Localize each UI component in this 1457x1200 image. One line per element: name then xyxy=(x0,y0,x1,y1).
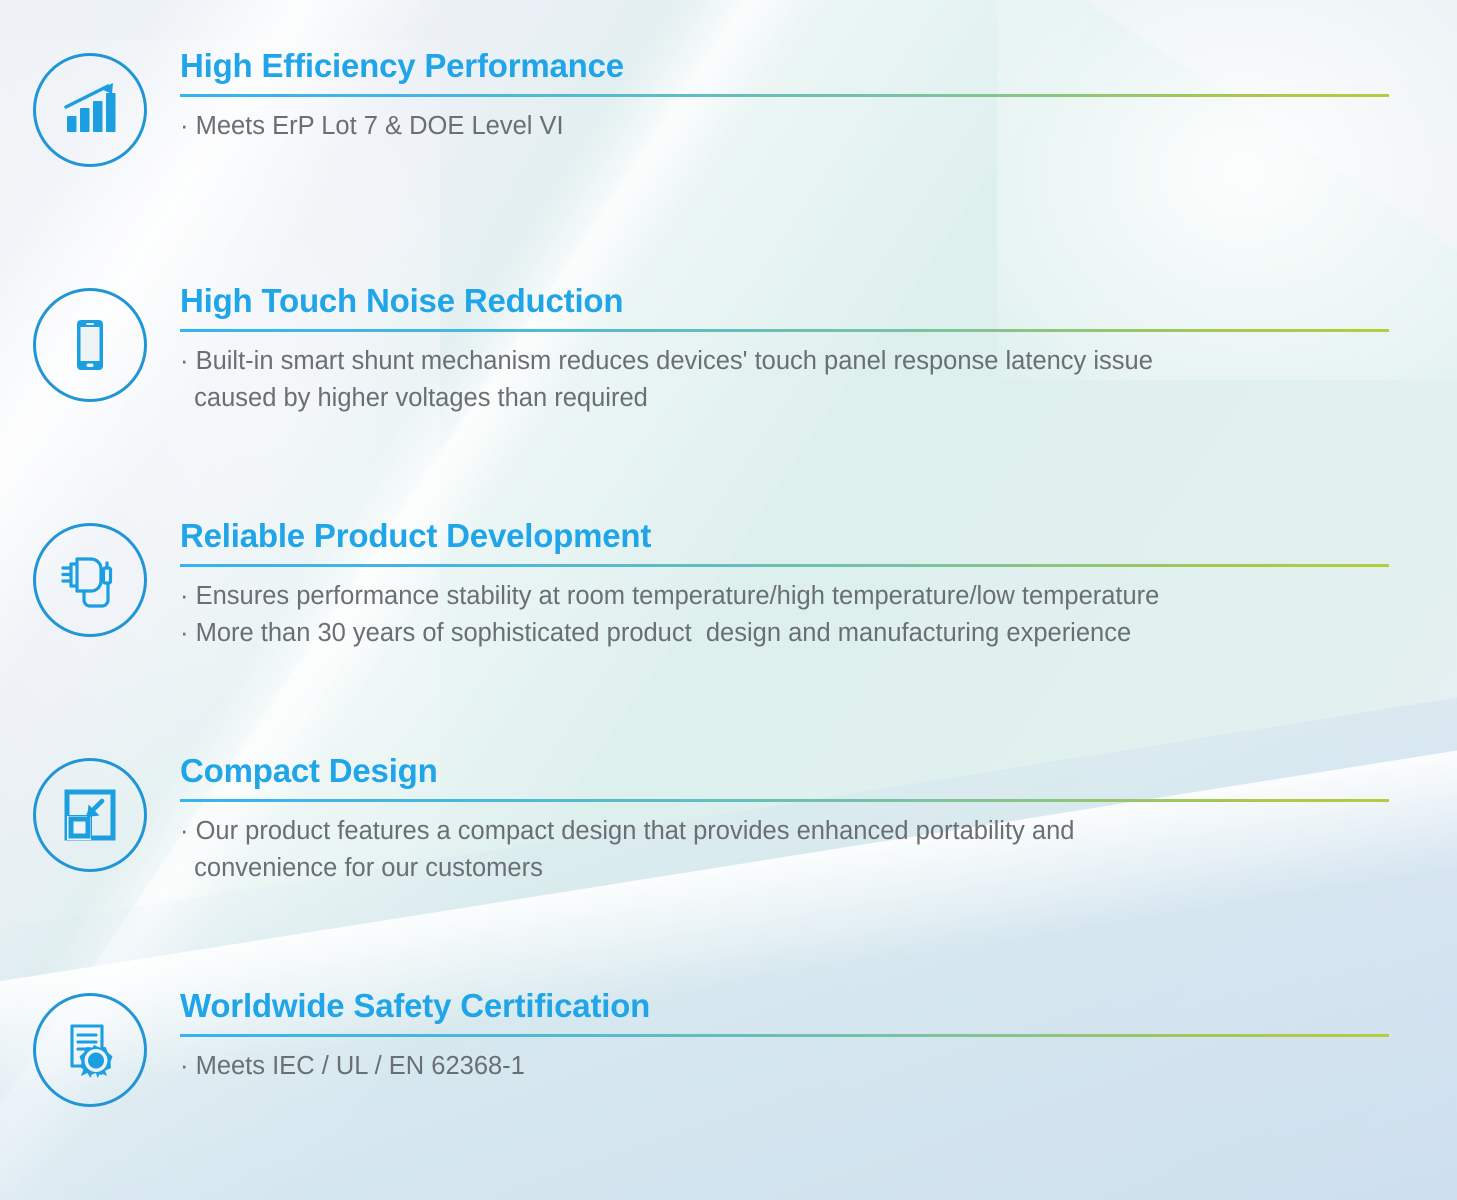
feature-icon-container xyxy=(0,282,180,402)
certificate-award-icon xyxy=(33,993,147,1107)
feature-text-container: High Touch Noise Reduction · Built-in sm… xyxy=(180,282,1457,417)
feature-divider xyxy=(180,1034,1389,1037)
bar-chart-growth-icon xyxy=(33,53,147,167)
feature-divider xyxy=(180,564,1389,567)
feature-icon-container xyxy=(0,47,180,167)
feature-bullet-line: caused by higher voltages than required xyxy=(180,380,1389,417)
feature-text-container: High Efficiency Performance · Meets ErP … xyxy=(180,47,1457,145)
feature-bullet-list: · Meets IEC / UL / EN 62368-1 xyxy=(180,1048,1389,1085)
feature-bullet-line: · More than 30 years of sophisticated pr… xyxy=(180,615,1389,652)
feature-bullet-line: · Our product features a compact design … xyxy=(180,813,1389,850)
feature-item-high-efficiency-performance: High Efficiency Performance · Meets ErP … xyxy=(0,47,1457,167)
feature-bullet-line: · Ensures performance stability at room … xyxy=(180,578,1389,615)
feature-divider xyxy=(180,94,1389,97)
feature-bullet-list: · Our product features a compact design … xyxy=(180,813,1389,887)
feature-bullet-line: · Built-in smart shunt mechanism reduces… xyxy=(180,343,1389,380)
power-adapter-icon xyxy=(33,523,147,637)
compact-resize-icon xyxy=(33,758,147,872)
feature-bullet-line: convenience for our customers xyxy=(180,850,1389,887)
feature-item-reliable-product-development: Reliable Product Development · Ensures p… xyxy=(0,517,1457,652)
feature-bullet-line: · Meets IEC / UL / EN 62368-1 xyxy=(180,1048,1389,1085)
feature-bullet-list: · Meets ErP Lot 7 & DOE Level VI xyxy=(180,108,1389,145)
smartphone-icon xyxy=(33,288,147,402)
feature-title: Compact Design xyxy=(180,752,1389,790)
feature-icon-container xyxy=(0,987,180,1107)
feature-title: High Touch Noise Reduction xyxy=(180,282,1389,320)
feature-item-compact-design: Compact Design · Our product features a … xyxy=(0,752,1457,887)
feature-bullet-list: · Ensures performance stability at room … xyxy=(180,578,1389,652)
feature-icon-container xyxy=(0,752,180,872)
feature-item-high-touch-noise-reduction: High Touch Noise Reduction · Built-in sm… xyxy=(0,282,1457,417)
feature-divider xyxy=(180,799,1389,802)
feature-text-container: Worldwide Safety Certification · Meets I… xyxy=(180,987,1457,1085)
feature-title: Worldwide Safety Certification xyxy=(180,987,1389,1025)
feature-title: Reliable Product Development xyxy=(180,517,1389,555)
feature-text-container: Reliable Product Development · Ensures p… xyxy=(180,517,1457,652)
feature-title: High Efficiency Performance xyxy=(180,47,1389,85)
feature-item-worldwide-safety-certification: Worldwide Safety Certification · Meets I… xyxy=(0,987,1457,1107)
feature-text-container: Compact Design · Our product features a … xyxy=(180,752,1457,887)
feature-bullet-list: · Built-in smart shunt mechanism reduces… xyxy=(180,343,1389,417)
feature-bullet-line: · Meets ErP Lot 7 & DOE Level VI xyxy=(180,108,1389,145)
feature-icon-container xyxy=(0,517,180,637)
feature-divider xyxy=(180,329,1389,332)
feature-list: High Efficiency Performance · Meets ErP … xyxy=(0,0,1457,1200)
